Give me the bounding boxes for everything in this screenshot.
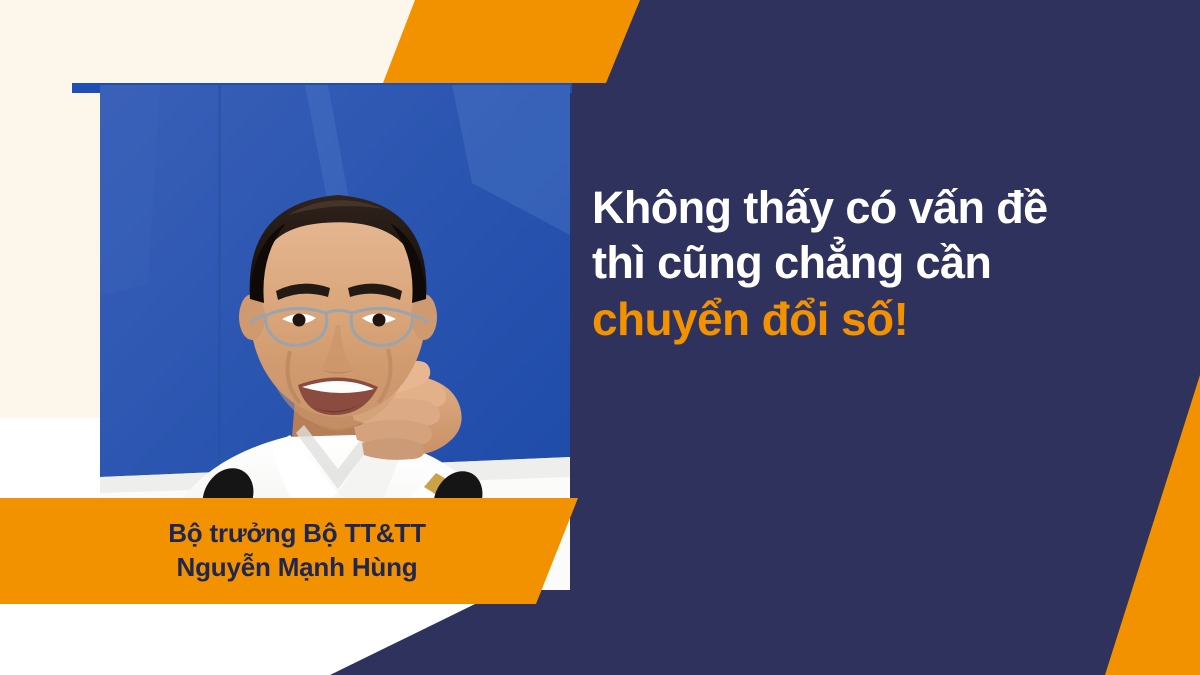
attribution-title: Bộ trưởng Bộ TT&TT xyxy=(168,517,426,551)
headline-quote: Không thấy có vấn đề thì cũng chẳng cần … xyxy=(592,180,1172,347)
attribution-name: Nguyễn Mạnh Hùng xyxy=(177,551,418,585)
quote-card: Bộ trưởng Bộ TT&TT Nguyễn Mạnh Hùng Khôn… xyxy=(0,0,1200,675)
headline-line-3: chuyển đổi số! xyxy=(592,291,1172,348)
headline-line-1: Không thấy có vấn đề xyxy=(592,180,1172,235)
headline-line-2: thì cũng chẳng cần xyxy=(592,235,1172,290)
